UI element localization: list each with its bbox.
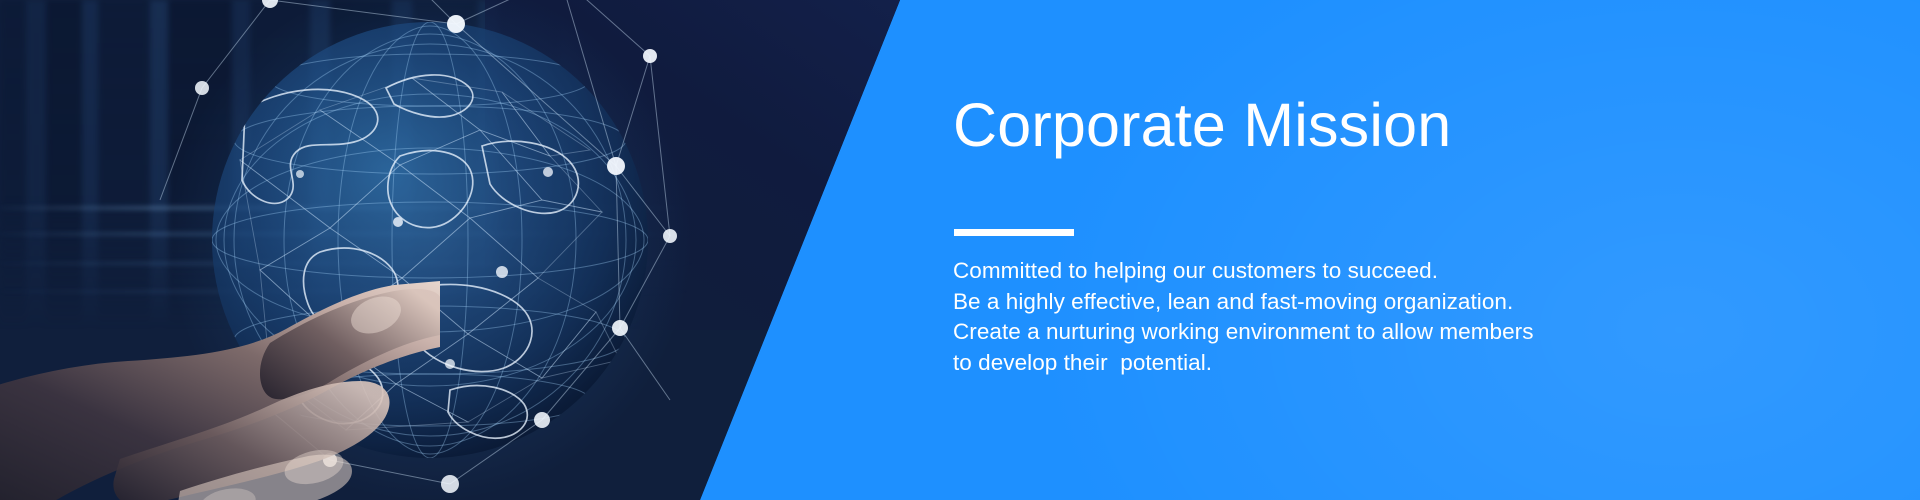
page-title: Corporate Mission [953,93,1451,159]
mission-statement: Committed to helping our customers to su… [953,256,1573,378]
mission-line-2: Be a highly effective, lean and fast-mov… [953,287,1573,318]
hand-illustration [0,215,440,500]
mission-line-1: Committed to helping our customers to su… [953,256,1573,287]
mission-line-3: Create a nurturing working environment t… [953,317,1573,348]
text-content-block: Corporate Mission Committed to helping o… [953,0,1813,500]
corporate-mission-banner: Corporate Mission Committed to helping o… [0,0,1920,500]
title-underline-bar [954,229,1074,236]
mission-line-4: to develop their potential. [953,348,1573,379]
